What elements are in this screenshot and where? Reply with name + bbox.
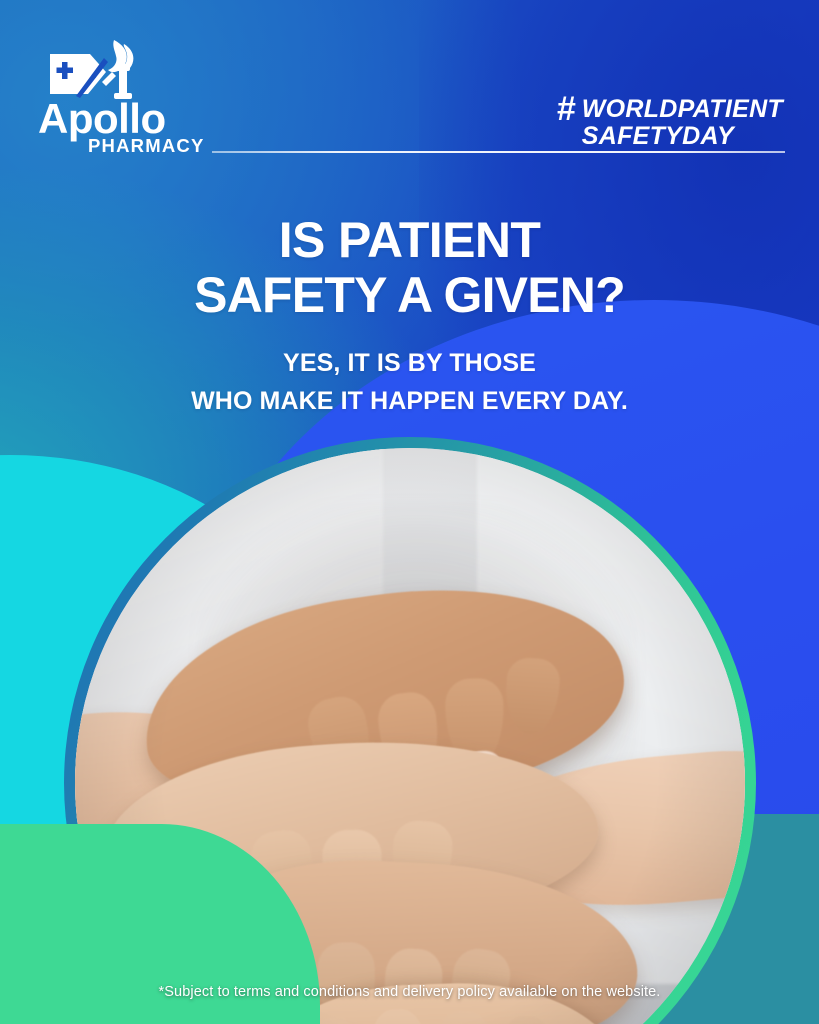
poster-canvas: Apollo PHARMACY #WORLDPATIENTSAFETYDAY I…: [0, 0, 819, 1024]
apollo-caduceus-torch-icon: [42, 38, 152, 110]
disclaimer-text: *Subject to terms and conditions and del…: [0, 984, 819, 1000]
hashtag-line-2: SAFETYDAY: [582, 122, 734, 150]
hash-symbol-icon: #: [557, 94, 576, 126]
subheadline-line-1: YES, IT IS BY THOSE: [0, 345, 819, 383]
hashtag-line-1: WORLDPATIENT: [582, 95, 783, 123]
header-divider-line: [212, 151, 785, 153]
headline-line-2: SAFETY A GIVEN?: [0, 268, 819, 323]
subheadline-line-2: WHO MAKE IT HAPPEN EVERY DAY.: [0, 383, 819, 421]
headline: IS PATIENT SAFETY A GIVEN?: [0, 213, 819, 322]
world-patient-safety-day-hashtag: #WORLDPATIENTSAFETYDAY: [557, 96, 783, 149]
subheadline: YES, IT IS BY THOSE WHO MAKE IT HAPPEN E…: [0, 345, 819, 420]
poster-header: Apollo PHARMACY #WORLDPATIENTSAFETYDAY: [0, 0, 819, 180]
headline-line-1: IS PATIENT: [0, 213, 819, 268]
apollo-pharmacy-logo: Apollo PHARMACY: [36, 38, 221, 157]
logo-wordmark-pharmacy: PHARMACY: [88, 135, 221, 157]
